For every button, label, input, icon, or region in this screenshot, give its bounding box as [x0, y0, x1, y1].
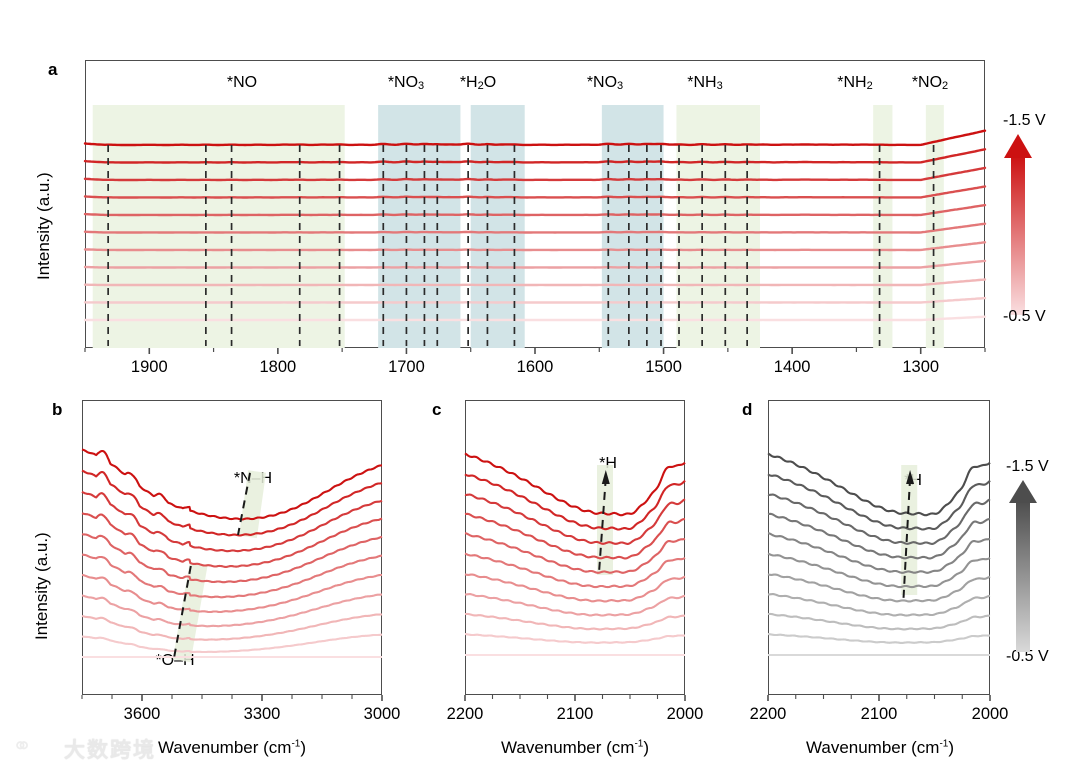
panel-a-potential-bottom: -0.5 V	[1003, 308, 1046, 326]
panel-a-ylabel: Intensity (a.u.)	[34, 172, 54, 280]
watermark: ⚭ 大数跨境	[8, 728, 180, 768]
panel-a-xtick-label-3: 1600	[495, 358, 575, 377]
band-label-nh3: *NH3	[660, 74, 750, 92]
panel-b-annot-oh: *O–H	[140, 652, 210, 670]
panel-c-xlabel: Wavenumber (cm-1)	[455, 738, 695, 758]
panel-a-plot-frame	[85, 60, 985, 348]
panel-b-annot-nh: *N–H	[218, 470, 288, 488]
panel-a-xtick-label-0: 1900	[109, 358, 189, 377]
panel-d-plot-frame	[768, 400, 990, 695]
band-label-nh2: *NH2	[815, 74, 895, 92]
panel-d-xlabel: Wavenumber (cm-1)	[760, 738, 1000, 758]
panel-d-xtick-label-0: 2200	[728, 705, 808, 724]
panel-a-potential-arrow-head	[1004, 134, 1032, 158]
panel-b-plot-frame	[82, 400, 382, 695]
panel-c-xtick-label-2: 2000	[645, 705, 725, 724]
panel-c-plot-frame	[465, 400, 685, 695]
panel-d-xtick-label-2: 2000	[950, 705, 1030, 724]
panel-c-annot-h: *H	[588, 455, 628, 473]
panel-b-ylabel: Intensity (a.u.)	[32, 532, 52, 640]
watermark-logo-icon: ⚭	[12, 732, 32, 761]
panel-b-xtick-label-1: 3300	[222, 705, 302, 724]
band-label-no3-1: *NO3	[366, 74, 446, 92]
panel-a-xtick-label-1: 1800	[238, 358, 318, 377]
band-label-no3-2: *NO3	[560, 74, 650, 92]
band-label-h2o: *H2O	[438, 74, 518, 92]
panel-a-potential-top: -1.5 V	[1003, 112, 1046, 130]
panel-b-xtick-label-2: 3000	[342, 705, 422, 724]
panel-b-letter: b	[52, 400, 62, 420]
panel-c-xtick-label-0: 2200	[425, 705, 505, 724]
panel-d-xtick-label-1: 2100	[839, 705, 919, 724]
panel-d-potential-bottom: -0.5 V	[1006, 648, 1049, 666]
panel-a-xtick-label-5: 1400	[752, 358, 832, 377]
panel-d-potential-gradient-bar	[1016, 500, 1030, 652]
panel-b-xtick-label-0: 3600	[102, 705, 182, 724]
band-label-no2: *NO2	[890, 74, 970, 92]
panel-d-annot-h: *H	[893, 472, 933, 490]
watermark-text: 大数跨境	[64, 734, 156, 764]
panel-a-letter: a	[48, 60, 57, 80]
panel-a-potential-gradient-bar	[1011, 155, 1025, 315]
panel-a-xtick-label-6: 1300	[881, 358, 961, 377]
panel-d-potential-top: -1.5 V	[1006, 458, 1049, 476]
band-label-no: *NO	[182, 74, 302, 92]
panel-d-potential-legend	[1009, 480, 1037, 652]
panel-c-letter: c	[432, 400, 441, 420]
panel-a-xtick-label-2: 1700	[366, 358, 446, 377]
panel-d-potential-arrow-head	[1009, 480, 1037, 503]
panel-a-xtick-label-4: 1500	[624, 358, 704, 377]
panel-d-letter: d	[742, 400, 752, 420]
panel-c-xtick-label-1: 2100	[535, 705, 615, 724]
